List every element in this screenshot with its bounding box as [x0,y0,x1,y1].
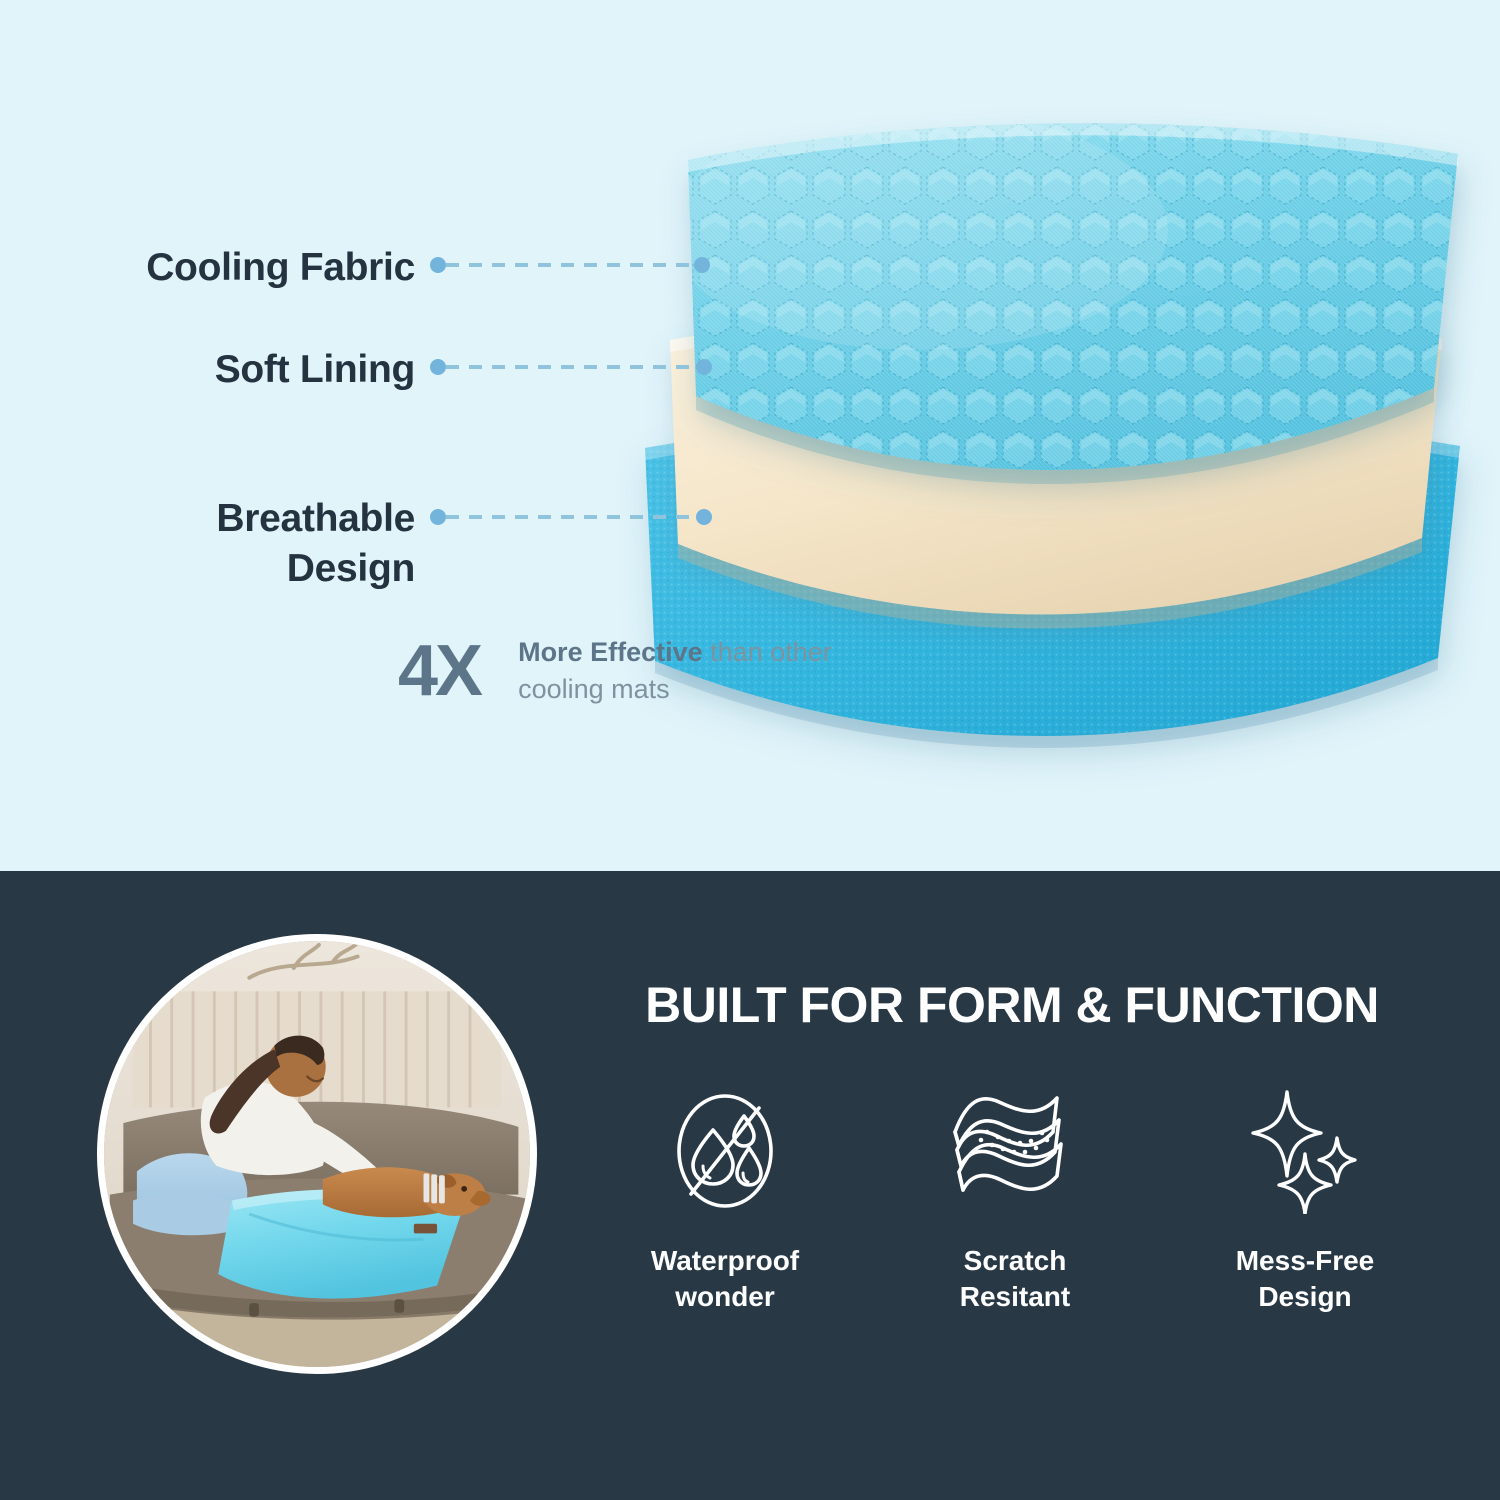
dashed-connector-icon-soft-lining [430,359,712,375]
layer-label-soft-lining: Soft Lining [215,345,415,395]
layer-label-breathable-design: Breathable Design [216,494,415,594]
connector-dot-right [696,359,712,375]
connector-dot-left [430,359,446,375]
connector-dot-left [430,509,446,525]
connector-dot-right [694,257,710,273]
connector-dash [446,515,696,519]
callout-multiplier: 4X [398,635,480,707]
callout-text: More Effective than other cooling mats [518,634,848,709]
waterproof-droplets-slash-icon [665,1081,785,1221]
features-panel: BUILT FOR FORM & FUNCTION [0,871,1500,1500]
feature-label-mess-free: Mess-Free Design [1236,1243,1375,1316]
feature-item-scratch-resistant: Scratch Resitant [890,1081,1140,1316]
connector-dash [446,263,694,267]
effectiveness-callout: 4X More Effective than other cooling mat… [398,634,848,709]
layers-panel: PELSBARN [0,0,1500,871]
lifestyle-photo-woman-petting-dog-on-cooling-mat-icon [104,941,530,1367]
callout-bold-text: More Effective [518,637,703,667]
connector-dot-right [696,509,712,525]
connector-dot-left [430,257,446,273]
sparkles-icon [1245,1081,1365,1221]
page-title: BUILT FOR FORM & FUNCTION [592,976,1432,1034]
layer-label-cooling-fabric: Cooling Fabric [146,243,415,293]
lifestyle-photo [97,934,537,1374]
product-infographic: PELSBARN [0,0,1500,1500]
feature-list: Waterproof wonder [600,1081,1430,1316]
dashed-connector-icon-cooling-fabric [430,257,710,273]
feature-label-scratch-resistant: Scratch Resitant [960,1243,1070,1316]
mat-top-layer [658,120,1498,510]
feature-label-waterproof: Waterproof wonder [651,1243,799,1316]
feature-item-mess-free: Mess-Free Design [1180,1081,1430,1316]
dashed-connector-icon-breathable-design [430,509,712,525]
feature-item-waterproof: Waterproof wonder [600,1081,850,1316]
wavy-fabric-layers-icon [947,1081,1083,1221]
connector-dash [446,365,696,369]
